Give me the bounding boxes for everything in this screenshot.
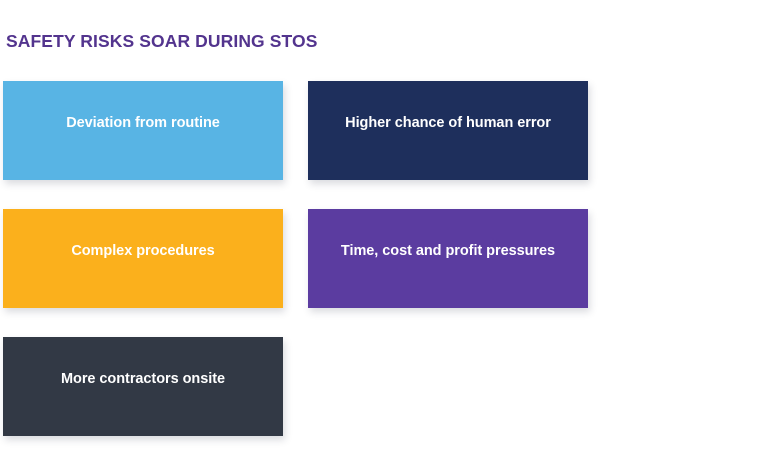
risk-card-more-contractors-onsite: More contractors onsite [3,337,283,436]
risk-card-label: Deviation from routine [66,114,220,132]
risk-card-higher-chance-of-human-error: Higher chance of human error [308,81,588,180]
risk-card-label: Higher chance of human error [345,114,551,132]
risk-card-grid: Deviation from routine Higher chance of … [3,81,591,436]
risk-card-complex-procedures: Complex procedures [3,209,283,308]
risk-card-label: Complex procedures [71,242,214,260]
risk-card-deviation-from-routine: Deviation from routine [3,81,283,180]
risk-card-label: Time, cost and profit pressures [341,242,555,260]
safety-risks-infographic: SAFETY RISKS SOAR DURING STOs Deviation … [0,0,760,466]
risk-card-label: More contractors onsite [61,370,225,388]
page-title: SAFETY RISKS SOAR DURING STOs [6,31,317,52]
risk-card-time-cost-and-profit-pressures: Time, cost and profit pressures [308,209,588,308]
